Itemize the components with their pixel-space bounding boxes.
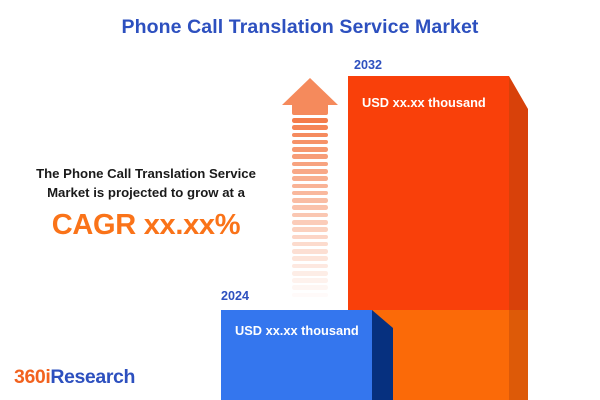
cagr-line-1: The Phone Call Translation Service (12, 164, 280, 183)
arrow-neck (292, 104, 328, 115)
year-label-2032: 2032 (354, 58, 382, 72)
arrow-gradient-segments (292, 118, 328, 307)
arrow-segment (292, 169, 328, 174)
arrow-segment (292, 125, 328, 130)
arrow-segment (292, 147, 328, 152)
arrow-segment (292, 227, 328, 232)
arrow-segment (292, 213, 328, 218)
arrow-segment (292, 140, 328, 145)
arrow-segment (292, 220, 328, 225)
infographic-canvas: Phone Call Translation Service Market Th… (0, 0, 600, 400)
arrow-segment (292, 293, 328, 298)
brand-logo: 360iResearch (14, 366, 135, 389)
bar-2024: USD xx.xx thousand (221, 310, 393, 400)
arrow-segment (292, 191, 328, 196)
arrow-segment (292, 249, 328, 254)
page-title: Phone Call Translation Service Market (0, 16, 600, 39)
bar-2032-value-label: USD xx.xx thousand (362, 95, 486, 110)
arrow-segment (292, 198, 328, 203)
arrow-segment (292, 242, 328, 247)
bar-2032-front-face (348, 76, 509, 310)
logo-360i-text: 360i (14, 366, 50, 388)
arrow-head-icon (282, 78, 338, 105)
bar-2032-side-face-lower (509, 310, 528, 400)
year-label-2024: 2024 (221, 289, 249, 303)
bar-2024-side-face (372, 310, 393, 400)
arrow-segment (292, 176, 328, 181)
arrow-segment (292, 256, 328, 261)
arrow-segment (292, 118, 328, 123)
arrow-segment (292, 300, 328, 305)
cagr-line-2: Market is projected to grow at a (12, 183, 280, 202)
arrow-segment (292, 162, 328, 167)
arrow-segment (292, 235, 328, 240)
logo-research-text: Research (50, 366, 135, 388)
bar-2024-value-label: USD xx.xx thousand (235, 323, 359, 338)
growth-arrow-icon (282, 78, 338, 293)
arrow-segment (292, 184, 328, 189)
cagr-text-block: The Phone Call Translation Service Marke… (12, 164, 280, 242)
arrow-segment (292, 278, 328, 283)
arrow-segment (292, 154, 328, 159)
arrow-segment (292, 264, 328, 269)
cagr-value: CAGR xx.xx% (12, 209, 280, 242)
arrow-segment (292, 133, 328, 138)
arrow-segment (292, 205, 328, 210)
arrow-segment (292, 271, 328, 276)
arrow-segment (292, 285, 328, 290)
